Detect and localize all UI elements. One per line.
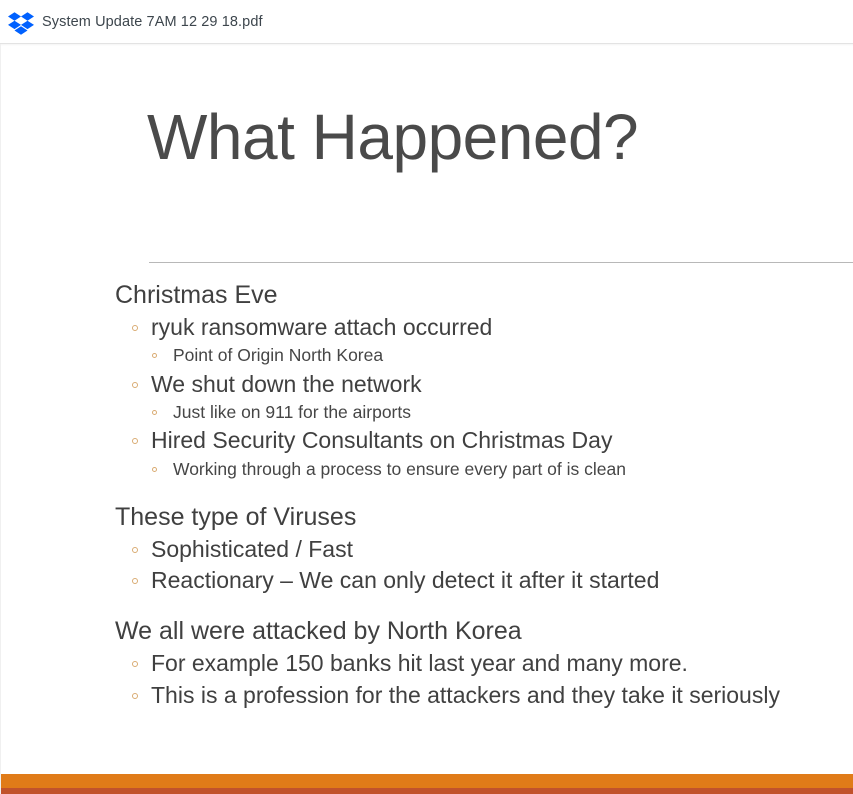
- footer-bar-orange: [1, 774, 853, 788]
- list-item: This is a profession for the attackers a…: [151, 680, 853, 711]
- footer-accent: [1, 774, 853, 794]
- title-divider: [149, 262, 853, 263]
- bullet-list-level2: Working through a process to ensure ever…: [1, 457, 853, 482]
- bullet-list-level2: Point of Origin North Korea: [1, 343, 853, 368]
- page-title: What Happened?: [147, 104, 638, 171]
- list-item: Hired Security Consultants on Christmas …: [151, 425, 853, 456]
- footer-bar-dark: [1, 788, 853, 794]
- dropbox-logo-icon[interactable]: [8, 9, 34, 35]
- file-name-label: System Update 7AM 12 29 18.pdf: [42, 14, 263, 30]
- content-section: Christmas Eve ryuk ransomware attach occ…: [1, 278, 853, 482]
- section-heading: We all were attacked by North Korea: [115, 614, 853, 648]
- bullet-list-level1: For example 150 banks hit last year and …: [1, 648, 853, 711]
- content-section: These type of Viruses Sophisticated / Fa…: [1, 500, 853, 597]
- list-item: Point of Origin North Korea: [173, 343, 853, 368]
- pdf-page: What Happened? Christmas Eve ryuk ransom…: [0, 44, 853, 794]
- section-heading: Christmas Eve: [115, 278, 853, 312]
- bullet-list-level2: Just like on 911 for the airports: [1, 400, 853, 425]
- list-item: For example 150 banks hit last year and …: [151, 648, 853, 679]
- section-spacer: [1, 596, 853, 614]
- content-section: We all were attacked by North Korea For …: [1, 614, 853, 711]
- list-item: Sophisticated / Fast: [151, 534, 853, 565]
- list-item: Just like on 911 for the airports: [173, 400, 853, 425]
- bullet-list-level1: Hired Security Consultants on Christmas …: [1, 425, 853, 456]
- bullet-list-level1: ryuk ransomware attach occurred: [1, 312, 853, 343]
- section-spacer: [1, 482, 853, 500]
- section-heading: These type of Viruses: [115, 500, 853, 534]
- list-item: We shut down the network: [151, 369, 853, 400]
- bullet-list-level1: Sophisticated / Fast Reactionary – We ca…: [1, 534, 853, 597]
- list-item: Reactionary – We can only detect it afte…: [151, 565, 853, 596]
- slide-body: Christmas Eve ryuk ransomware attach occ…: [1, 278, 853, 711]
- list-item: Working through a process to ensure ever…: [173, 457, 853, 482]
- list-item: ryuk ransomware attach occurred: [151, 312, 853, 343]
- pdf-viewer-header: System Update 7AM 12 29 18.pdf: [0, 0, 853, 44]
- bullet-list-level1: We shut down the network: [1, 369, 853, 400]
